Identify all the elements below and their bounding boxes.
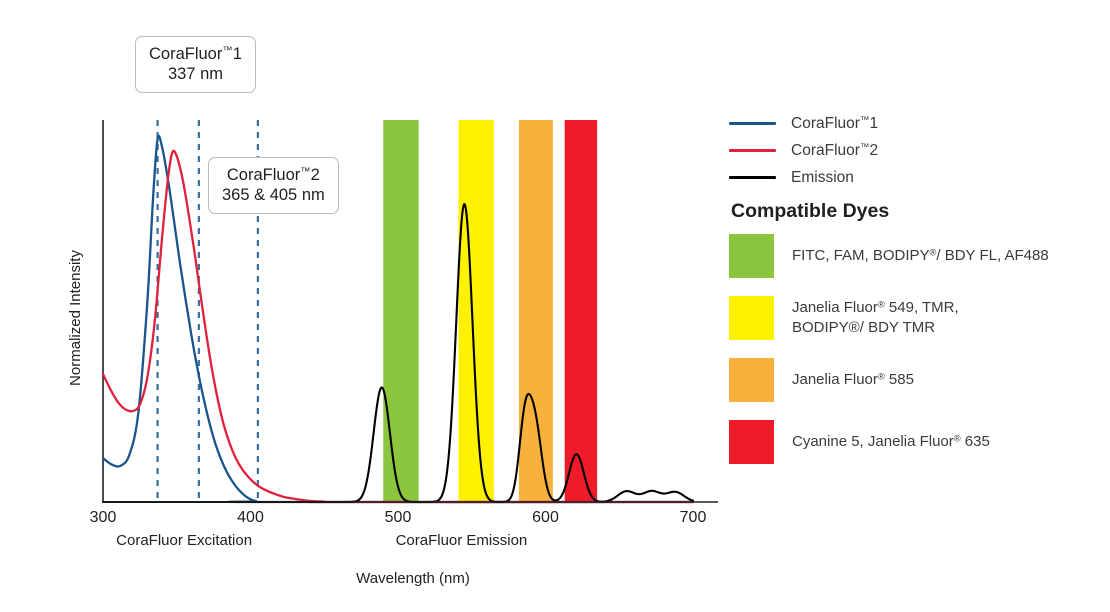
registered-mark: ® (954, 433, 961, 443)
dye-label-line1: Janelia Fluor® 549, TMR, (792, 298, 959, 318)
dye-color-swatch (729, 234, 774, 278)
x-tick-label-600: 600 (532, 509, 559, 526)
dye-label: Janelia Fluor® 585 (792, 370, 914, 390)
dye-list-item: FITC, FAM, BODIPY®/ BDY FL, AF488 (729, 234, 1104, 278)
dye-name-part: Janelia Fluor (792, 299, 878, 316)
legend-item-label: CoraFluor™2 (791, 142, 878, 160)
trademark-mark: ™ (860, 115, 870, 126)
dye-label: FITC, FAM, BODIPY®/ BDY FL, AF488 (792, 246, 1049, 266)
legend-line-swatch (729, 122, 776, 125)
dye-label-line1: Janelia Fluor® 585 (792, 370, 914, 390)
red-band (565, 120, 597, 502)
dye-label-line1: Cyanine 5, Janelia Fluor® 635 (792, 432, 990, 452)
legend-item: Emission (729, 164, 1099, 191)
yellow-band (458, 120, 493, 502)
registered-mark: ® (878, 299, 885, 309)
dye-label-line2: BODIPY®/ BDY TMR (792, 318, 959, 338)
dye-label: Janelia Fluor® 549, TMR,BODIPY®/ BDY TMR (792, 298, 959, 339)
dye-name-suffix: / BDY FL, AF488 (936, 247, 1048, 264)
compatible-dyes-list: FITC, FAM, BODIPY®/ BDY FL, AF488Janelia… (729, 234, 1104, 482)
dye-name-part: FITC, FAM, BODIPY (792, 247, 930, 264)
x-tick-label-500: 500 (385, 509, 412, 526)
legend-item-number: 1 (870, 115, 879, 132)
legend-line-swatch (729, 149, 776, 152)
dye-name-suffix: 585 (885, 371, 914, 388)
series-legend: CoraFluor™1CoraFluor™2Emission (729, 110, 1099, 191)
registered-mark: ® (878, 371, 885, 381)
dye-list-item: Janelia Fluor® 585 (729, 358, 1104, 402)
callout-corafluor1: CoraFluor™1 337 nm (135, 36, 256, 93)
dye-color-swatch (729, 358, 774, 402)
orange-band (519, 120, 553, 502)
legend-item-name: Emission (791, 169, 854, 186)
trademark-mark: ™ (860, 142, 870, 153)
dye-label: Cyanine 5, Janelia Fluor® 635 (792, 432, 990, 452)
dye-list-item: Janelia Fluor® 549, TMR,BODIPY®/ BDY TMR (729, 296, 1104, 340)
legend-item: CoraFluor™2 (729, 137, 1099, 164)
compatible-dyes-title: Compatible Dyes (731, 200, 889, 223)
legend-item-number: 2 (870, 142, 879, 159)
dye-name-suffix: 549, TMR, (885, 299, 959, 316)
callout-corafluor1-value: 337 nm (149, 64, 242, 84)
dye-name-part: Janelia Fluor (792, 371, 878, 388)
legend-item: CoraFluor™1 (729, 110, 1099, 137)
region-label: CoraFluor Emission (396, 532, 528, 549)
callout-corafluor2-value: 365 & 405 nm (222, 185, 325, 205)
x-axis-title: Wavelength (nm) (356, 570, 470, 587)
legend-item-label: CoraFluor™1 (791, 115, 878, 133)
x-tick-label-300: 300 (90, 509, 117, 526)
x-tick-label-700: 700 (680, 509, 707, 526)
legend-line-swatch (729, 176, 776, 179)
legend-item-label: Emission (791, 169, 854, 187)
dye-label-line1: FITC, FAM, BODIPY®/ BDY FL, AF488 (792, 246, 1049, 266)
legend-item-name: CoraFluor (791, 115, 860, 132)
dye-name-part: Cyanine 5, Janelia Fluor (792, 433, 954, 450)
region-label: CoraFluor Excitation (116, 532, 252, 549)
green-band (383, 120, 418, 502)
dye-list-item: Cyanine 5, Janelia Fluor® 635 (729, 420, 1104, 464)
y-axis-title: Normalized Intensity (67, 250, 84, 386)
callout-corafluor2-title: CoraFluor™2 (222, 165, 325, 185)
callout-corafluor2: CoraFluor™2 365 & 405 nm (208, 157, 339, 214)
legend-item-name: CoraFluor (791, 142, 860, 159)
dye-name-suffix: 635 (961, 433, 990, 450)
dye-color-swatch (729, 420, 774, 464)
callout-corafluor1-title: CoraFluor™1 (149, 44, 242, 64)
x-tick-label-400: 400 (237, 509, 264, 526)
dye-color-swatch (729, 296, 774, 340)
